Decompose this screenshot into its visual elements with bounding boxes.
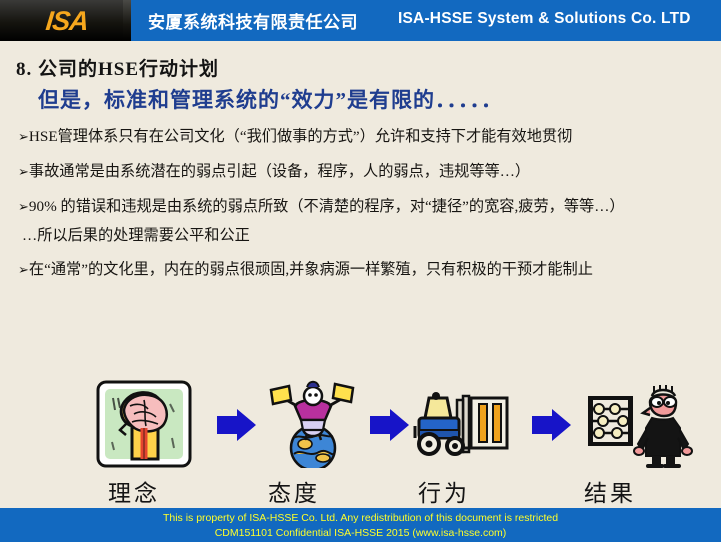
- isa-logo: ISA: [24, 6, 109, 36]
- slide-header: ISA 安厦系统科技有限责任公司 ISA-HSSE System & Solut…: [0, 0, 721, 41]
- list-item: ➢90% 的错误和违规是由系统的弱点所致（不清楚的程序，对“捷径”的宽容,疲劳，…: [18, 196, 694, 219]
- flow-arrow-icon: [532, 408, 572, 442]
- forklift-icon: [413, 386, 523, 464]
- list-item-continuation: …所以后果的处理需要公平和公正: [18, 225, 694, 247]
- list-item-text: 90% 的错误和违规是由系统的弱点所致（不清楚的程序，对“捷径”的宽容,疲劳，等…: [29, 198, 625, 215]
- flow-label-concept: 理念: [108, 474, 160, 508]
- flow-diagram: [0, 378, 721, 468]
- flow-arrow-icon: [217, 408, 257, 442]
- footer-document-line: CDM151101 Confidential ISA-HSSE 2015 (ww…: [0, 526, 721, 541]
- flow-arrow-icon: [370, 408, 410, 442]
- flow-label-attitude: 态度: [268, 474, 320, 508]
- list-item-text: 事故通常是由系统潜在的弱点引起（设备，程序，人的弱点，违规等等…）: [29, 163, 530, 180]
- flow-label-result: 结果: [584, 474, 636, 508]
- page-title: 8. 公司的HSE行动计划: [16, 54, 219, 81]
- abacus-businessman-icon: [580, 382, 700, 468]
- page-subtitle: 但是，标准和管理系统的“效力”是有限的．．．．．: [38, 84, 503, 114]
- bullet-list: ➢HSE管理体系只有在公司文化（“我们做事的方式”）允许和支持下才能有效地贯彻 …: [18, 126, 694, 294]
- head-brain-icon: [96, 380, 192, 468]
- company-name-en: ISA-HSSE System & Solutions Co. LTD: [398, 10, 691, 28]
- company-name-cn: 安厦系统科技有限责任公司: [148, 8, 358, 33]
- list-item: ➢在“通常”的文化里，内在的弱点很顽固,并象病源一样繁殖，只有积极的干预才能制止: [18, 259, 694, 282]
- person-on-globe-icon: [265, 378, 361, 468]
- header-dark-divider: [123, 0, 131, 41]
- list-item-text: HSE管理体系只有在公司文化（“我们做事的方式”）允许和支持下才能有效地贯彻: [29, 128, 572, 145]
- list-item: ➢事故通常是由系统潜在的弱点引起（设备，程序，人的弱点，违规等等…）: [18, 161, 694, 184]
- bullet-arrow-icon: ➢: [18, 130, 29, 145]
- flow-label-behavior: 行为: [418, 474, 470, 508]
- slide-footer: This is property of ISA-HSSE Co. Ltd. An…: [0, 508, 721, 542]
- footer-copyright-line: This is property of ISA-HSSE Co. Ltd. An…: [0, 508, 721, 526]
- bullet-arrow-icon: ➢: [18, 200, 29, 215]
- list-item-text: 在“通常”的文化里，内在的弱点很顽固,并象病源一样繁殖，只有积极的干预才能制止: [29, 261, 593, 278]
- bullet-arrow-icon: ➢: [18, 263, 29, 278]
- list-item: ➢HSE管理体系只有在公司文化（“我们做事的方式”）允许和支持下才能有效地贯彻: [18, 126, 694, 149]
- bullet-arrow-icon: ➢: [18, 165, 29, 180]
- slide-canvas: ISA 安厦系统科技有限责任公司 ISA-HSSE System & Solut…: [0, 0, 721, 542]
- flow-labels: 理念 态度 行为 结果: [0, 470, 721, 504]
